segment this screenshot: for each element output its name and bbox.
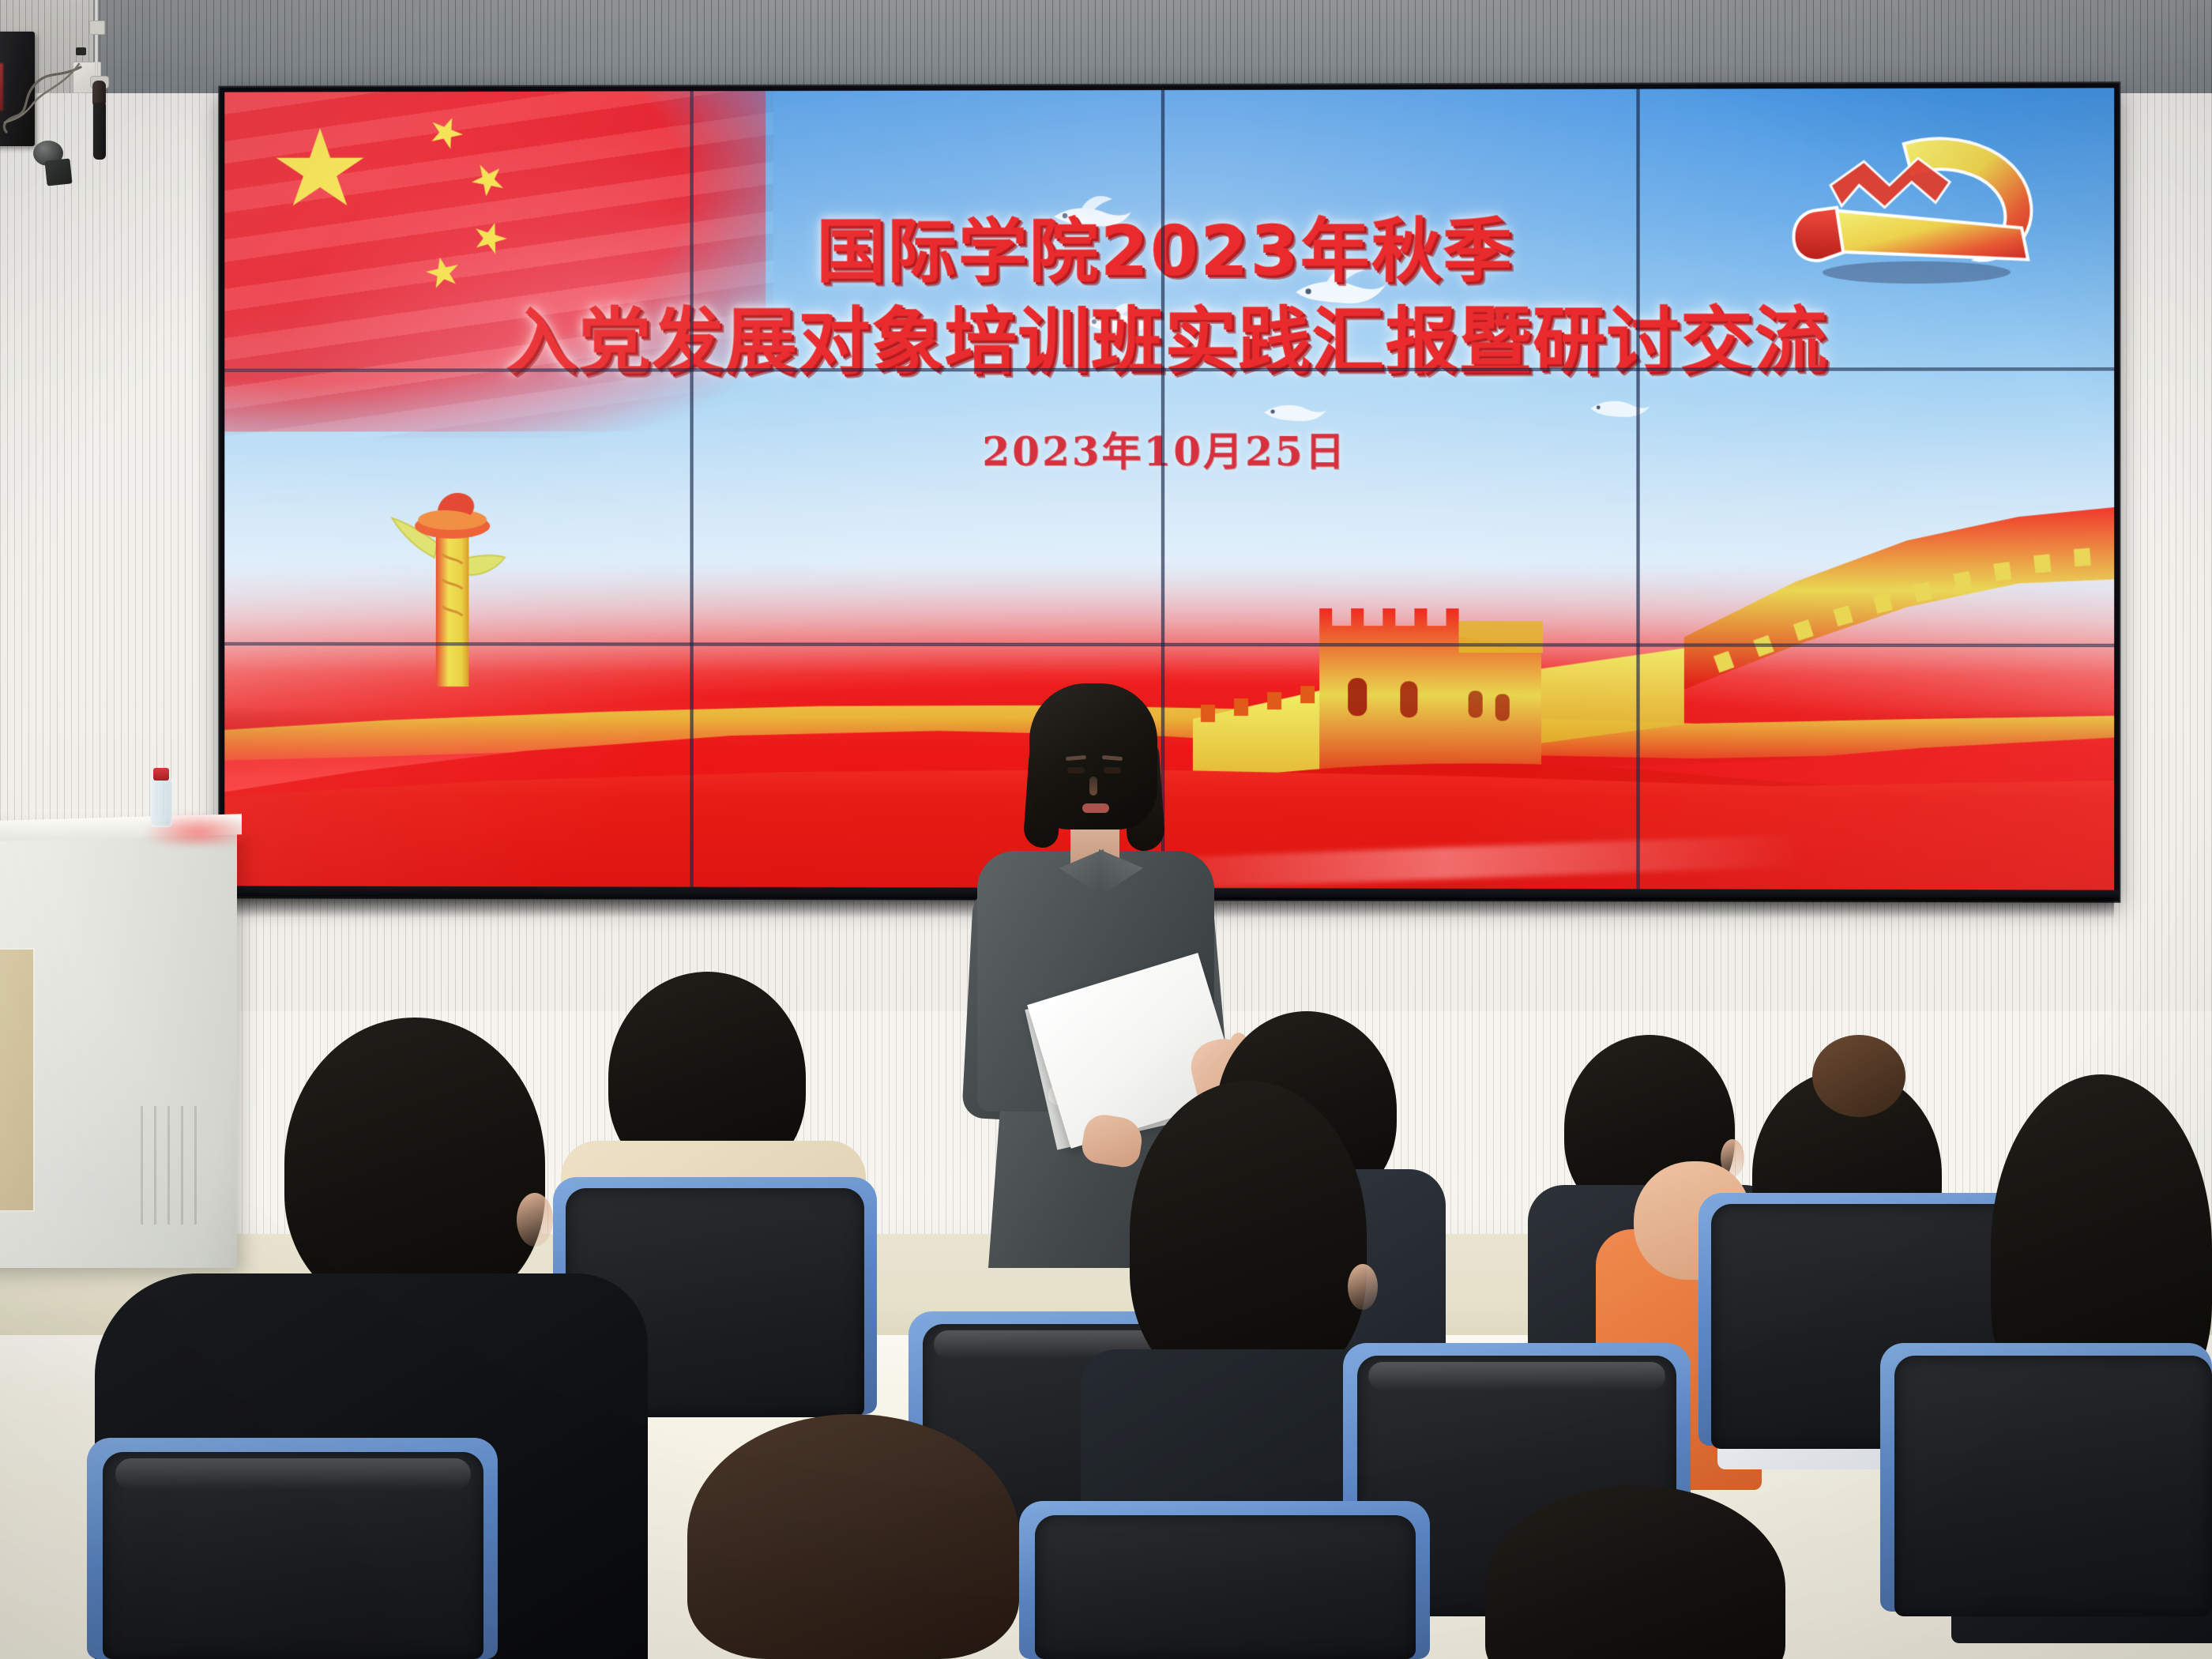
presenter-nose xyxy=(1089,777,1097,796)
chair-seatback[interactable] xyxy=(1035,1515,1416,1659)
chair-highlight xyxy=(1368,1362,1665,1390)
wall-connector-icon xyxy=(76,47,86,55)
slide-headline-line1: 国际学院2023年秋季 xyxy=(224,209,2114,293)
lectern-wood-panel xyxy=(0,948,35,1212)
attendee-head xyxy=(1130,1081,1367,1390)
water-bottle-cap xyxy=(153,768,169,781)
attendee-head xyxy=(687,1414,1019,1659)
panel-seam-v3 xyxy=(1637,89,1640,894)
wall-speaker-icon xyxy=(0,32,35,146)
huabiao-column-icon xyxy=(389,482,522,694)
attendee-hair-bun xyxy=(1812,1035,1905,1117)
water-bottle-icon[interactable] xyxy=(150,778,172,827)
attendee-ear xyxy=(1348,1264,1378,1310)
conference-hall-screenshot: 国际学院2023年秋季 入党发展对象培训班实践汇报暨研讨交流 2023年10月2… xyxy=(0,0,2212,1659)
ceiling-panel xyxy=(0,0,2212,95)
panel-seam-v1 xyxy=(690,91,694,891)
attendee-ear xyxy=(517,1193,553,1247)
chair-highlight xyxy=(115,1458,471,1490)
attendee-head xyxy=(284,1018,545,1311)
chair-seatback[interactable] xyxy=(1894,1356,2212,1616)
slide-date: 2023年10月25日 xyxy=(224,420,2114,478)
presenter-eye-left xyxy=(1067,767,1085,773)
presenter-mouth xyxy=(1082,803,1109,813)
microphone-holder[interactable] xyxy=(90,76,107,163)
speaker-indicator-light xyxy=(0,63,3,111)
great-wall-icon xyxy=(1193,482,2114,823)
lectern-vent-slots xyxy=(141,1106,199,1224)
conduit-clip-icon xyxy=(89,21,105,35)
lectern[interactable] xyxy=(0,826,237,1268)
presenter-eye-right xyxy=(1104,767,1121,773)
security-camera-body xyxy=(44,158,72,186)
mic-body-icon xyxy=(93,103,106,160)
